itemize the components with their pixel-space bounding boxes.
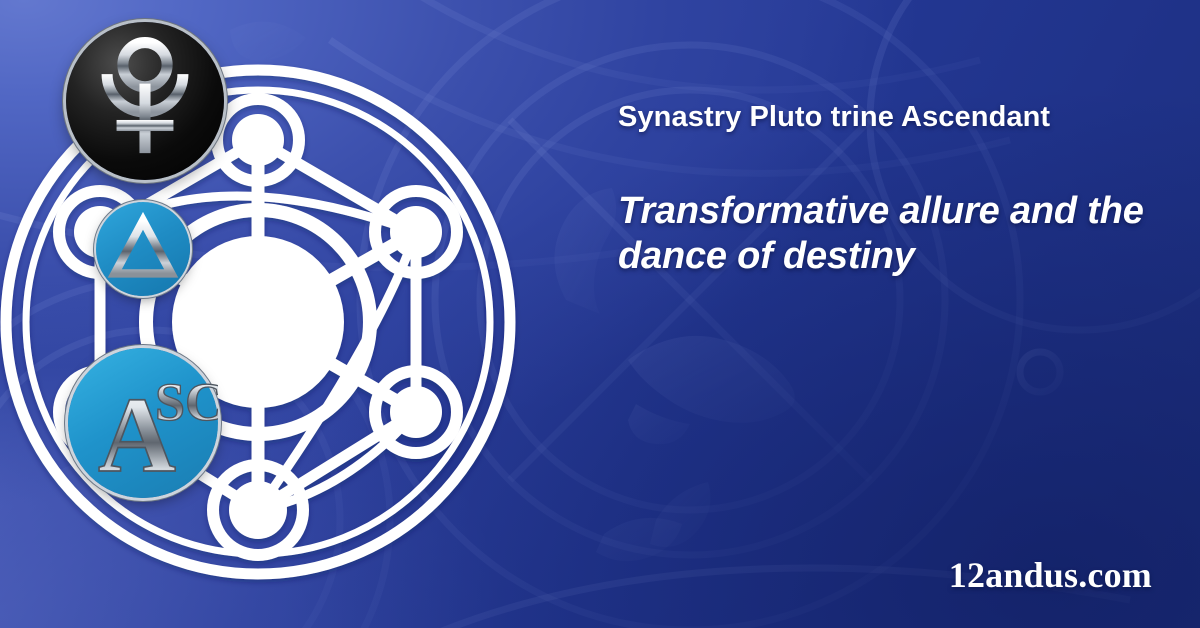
- trine-glyph: [96, 202, 190, 296]
- page-title: Synastry Pluto trine Ascendant: [618, 100, 1158, 135]
- svg-text:SC: SC: [155, 372, 218, 432]
- headline-block: Synastry Pluto trine Ascendant Transform…: [618, 100, 1158, 278]
- pluto-glyph: [66, 22, 224, 180]
- brand-wordmark[interactable]: 12andus.com: [949, 554, 1152, 596]
- ascendant-glyph: A SC: [68, 348, 218, 498]
- badge-ascendant: A SC: [68, 348, 218, 498]
- badge-trine: [96, 202, 190, 296]
- banner: A SC Synastry Pluto trine Ascendant Tran…: [0, 0, 1200, 628]
- badge-pluto: [66, 22, 224, 180]
- page-subtitle: Transformative allure and the dance of d…: [618, 189, 1158, 279]
